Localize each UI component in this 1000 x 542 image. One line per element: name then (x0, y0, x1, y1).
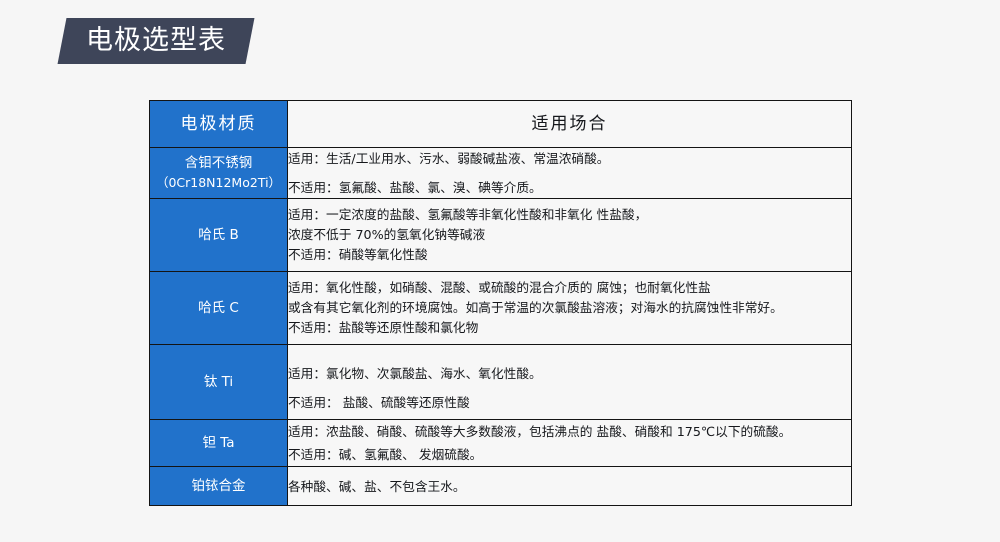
material-cell: 哈氏 C (150, 272, 288, 345)
material-cell: 含钼不锈钢 （0Cr18N12Mo2Ti） (150, 148, 288, 199)
page-title-banner: 电极选型表 (62, 18, 250, 64)
application-line: 各种酸、碱、盐、不包含王水。 (288, 476, 851, 497)
table-row: 钽 Ta 适用：浓盐酸、硝酸、硫酸等大多数酸液，包括沸点的 盐酸、硝酸和 175… (150, 420, 852, 467)
material-name: 哈氏 B (150, 225, 287, 245)
application-cell: 适用：一定浓度的盐酸、氢氟酸等非氧化性酸和非氧化 性盐酸， 浓度不低于 70%的… (288, 199, 852, 272)
application-line: 不适用：氢氟酸、盐酸、氯、溴、碘等介质。 (288, 177, 851, 198)
material-cell: 哈氏 B (150, 199, 288, 272)
application-cell: 适用：生活/工业用水、污水、弱酸碱盐液、常温浓硝酸。 不适用：氢氟酸、盐酸、氯、… (288, 148, 852, 199)
application-line: 不适用：盐酸等还原性酸和氯化物 (288, 318, 851, 338)
material-cell: 钛 Ti (150, 345, 288, 420)
table-row: 钛 Ti 适用：氯化物、次氯酸盐、海水、氧化性酸。 不适用： 盐酸、硫酸等还原性… (150, 345, 852, 420)
column-header-material: 电极材质 (150, 101, 288, 148)
application-line: 适用：氯化物、次氯酸盐、海水、氧化性酸。 (288, 363, 851, 384)
material-name: 含钼不锈钢 (150, 153, 287, 173)
application-cell: 各种酸、碱、盐、不包含王水。 (288, 467, 852, 506)
table-body: 电极材质 适用场合 含钼不锈钢 （0Cr18N12Mo2Ti） 适用：生活/工业… (150, 101, 852, 506)
application-line: 适用：一定浓度的盐酸、氢氟酸等非氧化性酸和非氧化 性盐酸， (288, 205, 851, 225)
application-line: 适用：氧化性酸，如硝酸、混酸、或硫酸的混合介质的 腐蚀；也耐氧化性盐 (288, 278, 851, 298)
column-header-application: 适用场合 (288, 101, 852, 148)
page-root: { "banner": { "title": "电极选型表", "backgro… (0, 0, 1000, 542)
material-name: 铂铱合金 (150, 476, 287, 496)
material-name: 哈氏 C (150, 298, 287, 318)
application-line: 适用：浓盐酸、硝酸、硫酸等大多数酸液，包括沸点的 盐酸、硝酸和 175℃以下的硫… (288, 421, 851, 442)
application-line: 或含有其它氧化剂的环境腐蚀。如高于常温的次氯酸盐溶液；对海水的抗腐蚀性非常好。 (288, 298, 851, 318)
application-line: 不适用：碱、氢氟酸、 发烟硫酸。 (288, 444, 851, 465)
application-line: 不适用：硝酸等氧化性酸 (288, 245, 851, 265)
table-row: 铂铱合金 各种酸、碱、盐、不包含王水。 (150, 467, 852, 506)
table-header-row: 电极材质 适用场合 (150, 101, 852, 148)
material-cell: 铂铱合金 (150, 467, 288, 506)
material-cell: 钽 Ta (150, 420, 288, 467)
table-row: 含钼不锈钢 （0Cr18N12Mo2Ti） 适用：生活/工业用水、污水、弱酸碱盐… (150, 148, 852, 199)
application-cell: 适用：浓盐酸、硝酸、硫酸等大多数酸液，包括沸点的 盐酸、硝酸和 175℃以下的硫… (288, 420, 852, 467)
banner-shape: 电极选型表 (58, 18, 255, 64)
table-row: 哈氏 B 适用：一定浓度的盐酸、氢氟酸等非氧化性酸和非氧化 性盐酸， 浓度不低于… (150, 199, 852, 272)
electrode-selection-table-container: 电极材质 适用场合 含钼不锈钢 （0Cr18N12Mo2Ti） 适用：生活/工业… (149, 100, 851, 506)
application-cell: 适用：氯化物、次氯酸盐、海水、氧化性酸。 不适用： 盐酸、硫酸等还原性酸 (288, 345, 852, 420)
application-cell: 适用：氧化性酸，如硝酸、混酸、或硫酸的混合介质的 腐蚀；也耐氧化性盐 或含有其它… (288, 272, 852, 345)
application-line: 不适用： 盐酸、硫酸等还原性酸 (288, 392, 851, 413)
application-line: 浓度不低于 70%的氢氧化钠等碱液 (288, 225, 851, 245)
application-line: 适用：生活/工业用水、污水、弱酸碱盐液、常温浓硝酸。 (288, 148, 851, 169)
material-name: 钛 Ti (150, 372, 287, 392)
page-title: 电极选型表 (86, 18, 226, 64)
material-name: 钽 Ta (150, 433, 287, 453)
table-row: 哈氏 C 适用：氧化性酸，如硝酸、混酸、或硫酸的混合介质的 腐蚀；也耐氧化性盐 … (150, 272, 852, 345)
material-grade: （0Cr18N12Mo2Ti） (150, 173, 287, 193)
electrode-selection-table: 电极材质 适用场合 含钼不锈钢 （0Cr18N12Mo2Ti） 适用：生活/工业… (149, 100, 852, 506)
